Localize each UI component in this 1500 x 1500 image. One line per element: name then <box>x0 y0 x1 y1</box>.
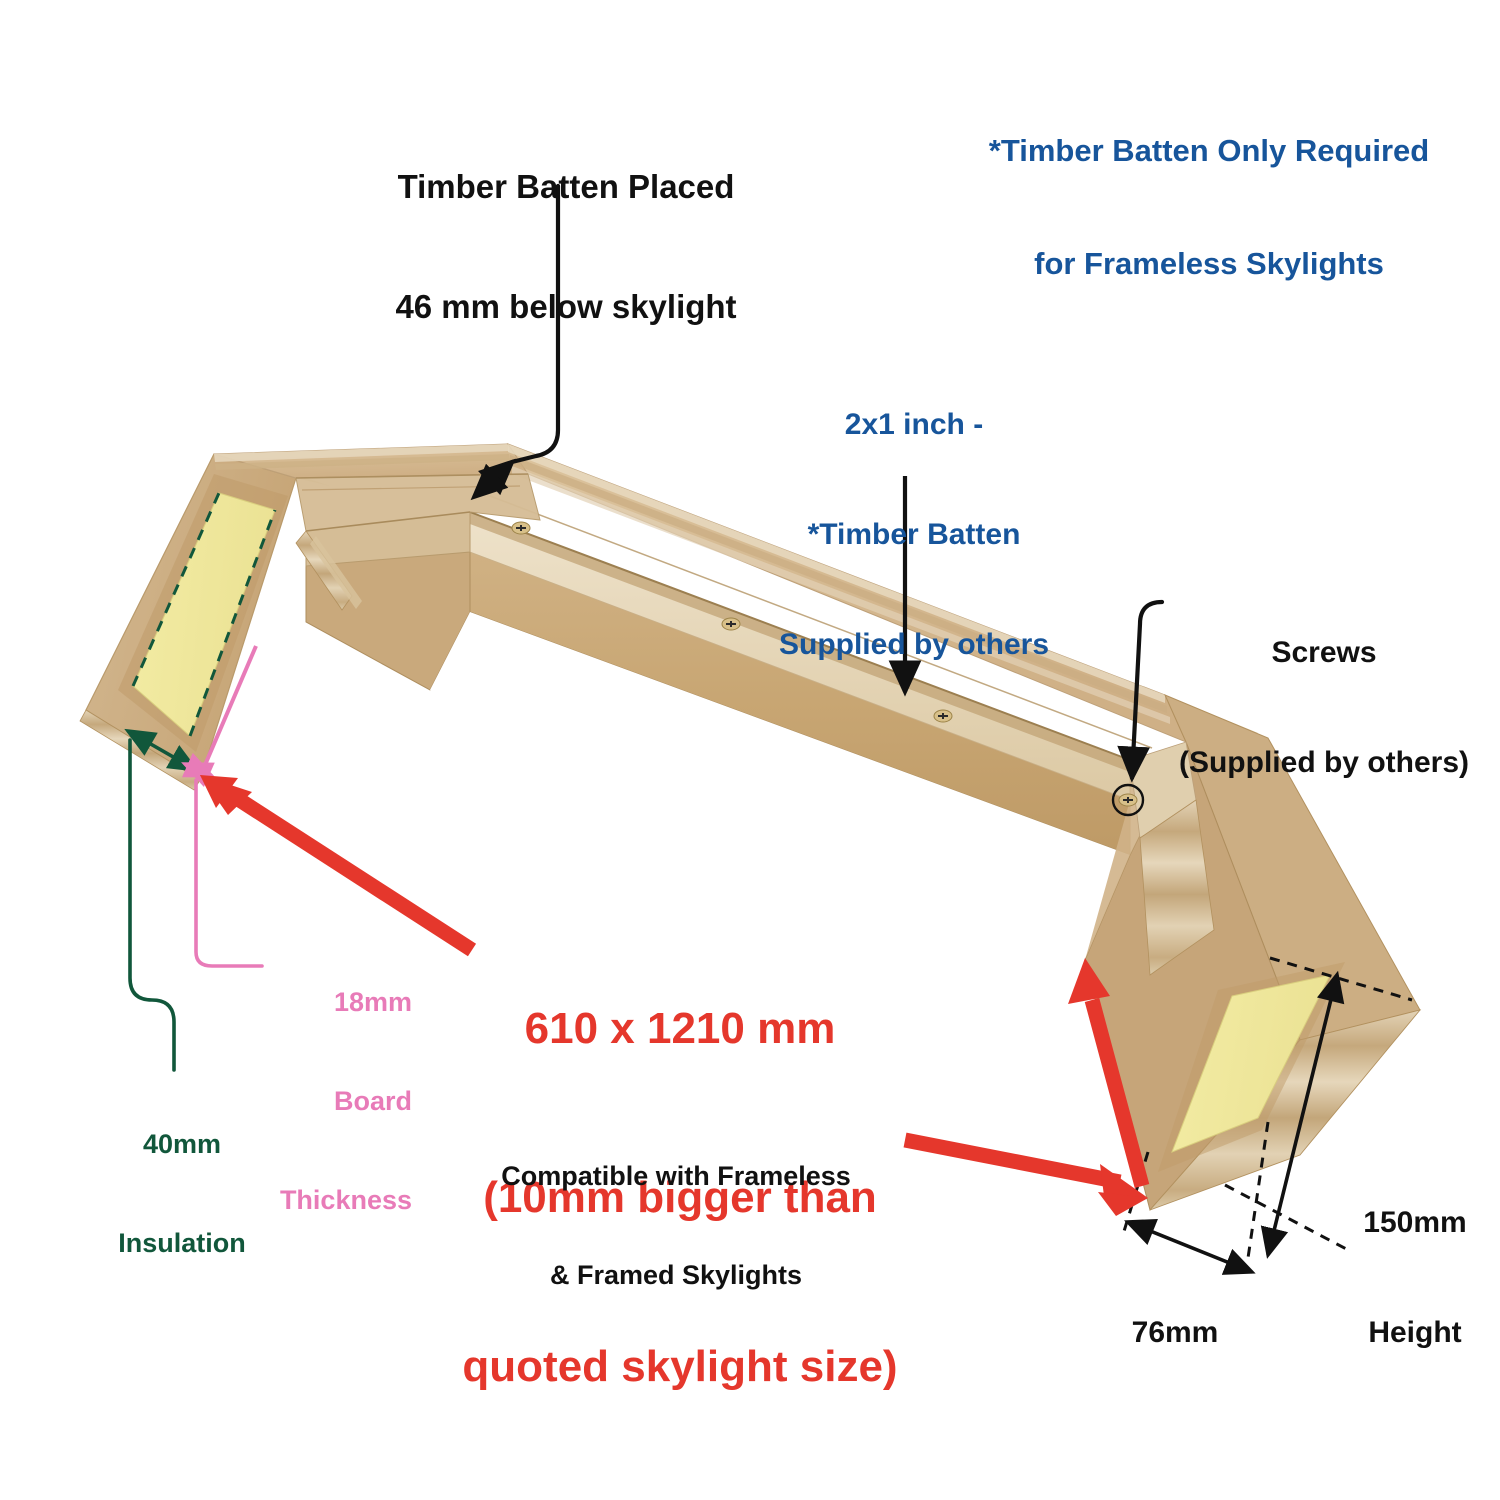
batten-spec-line2: *Timber Batten <box>740 517 1088 554</box>
height-dimension-label: 150mm Height <box>1330 1132 1500 1425</box>
timber-batten-note-label: *Timber Batten Only Required for Framele… <box>920 56 1498 359</box>
board-thickness-line2: Board <box>262 1085 412 1118</box>
batten-spec-label: 2x1 inch - *Timber Batten Supplied by ot… <box>740 334 1088 737</box>
insulation-line2: Insulation <box>92 1227 272 1260</box>
screws-line2: (Supplied by others) <box>1145 745 1500 782</box>
batten-spec-line1: 2x1 inch - <box>740 407 1088 444</box>
screws-label: Screws (Supplied by others) <box>1145 562 1500 855</box>
height-dimension-line1: 150mm <box>1330 1205 1500 1242</box>
height-dimension-line2: Height <box>1330 1315 1500 1352</box>
compatibility-line1: Compatible with Frameless <box>468 1160 884 1193</box>
width-dimension-line1: 76mm <box>1100 1315 1250 1352</box>
insulation-label: 40mm Insulation <box>92 1062 272 1326</box>
screws-line1: Screws <box>1145 635 1500 672</box>
compatibility-line2: & Framed Skylights <box>468 1259 884 1292</box>
timber-batten-placed-line1: Timber Batten Placed <box>316 167 816 207</box>
insulation-dimension <box>128 493 275 1070</box>
board-thickness-line3: Thickness <box>262 1184 412 1217</box>
width-dimension-label: 76mm <box>1100 1242 1250 1425</box>
timber-batten-placed-line2: 46 mm below skylight <box>316 287 816 327</box>
timber-batten-note-line1: *Timber Batten Only Required <box>920 132 1498 170</box>
timber-batten-note-line2: for Frameless Skylights <box>920 245 1498 283</box>
board-thickness-label: 18mm Board Thickness <box>262 920 412 1282</box>
board-thickness-line1: 18mm <box>262 986 412 1019</box>
insulation-line1: 40mm <box>92 1128 272 1161</box>
compatibility-label: Compatible with Frameless & Framed Skyli… <box>468 1094 884 1358</box>
skylight-upstand-diagram: Timber Batten Placed 46 mm below skyligh… <box>0 0 1500 1500</box>
opening-size-line1: 610 x 1210 mm <box>420 1001 940 1057</box>
batten-spec-line3: Supplied by others <box>740 627 1088 664</box>
